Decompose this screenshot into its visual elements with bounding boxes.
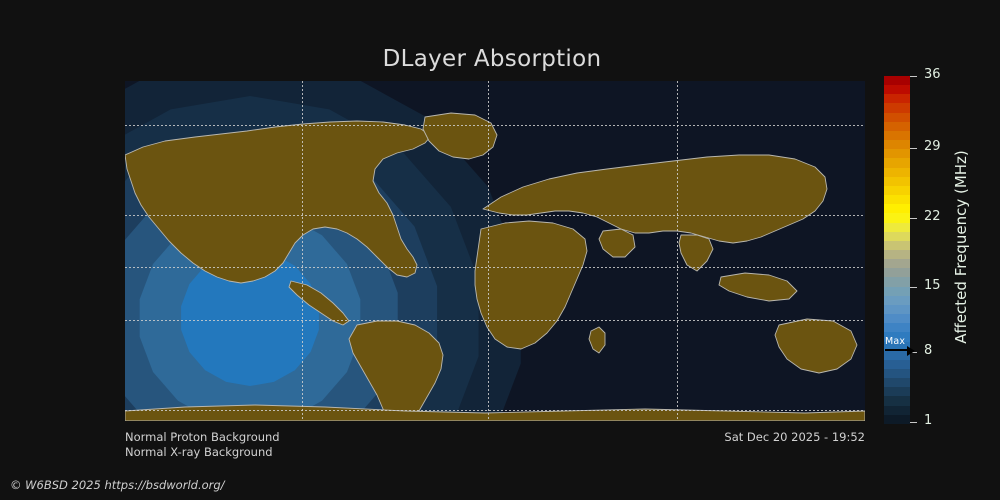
- gridline-layer: [125, 81, 865, 421]
- gridline-horizontal: [125, 215, 865, 216]
- colorbar-band: [884, 103, 910, 112]
- colorbar-band: [884, 305, 910, 314]
- colorbar-band: [884, 259, 910, 268]
- colorbar-band: [884, 223, 910, 232]
- colorbar-tick-mark: [910, 76, 917, 77]
- max-marker-arrowhead-icon: [907, 346, 915, 356]
- colorbar-band: [884, 168, 910, 177]
- max-marker-label: Max: [885, 336, 905, 347]
- gridline-horizontal: [125, 125, 865, 126]
- colorbar-band: [884, 149, 910, 158]
- max-marker: Max: [884, 336, 928, 358]
- gridline-vertical: [677, 81, 678, 421]
- colorbar-band: [884, 195, 910, 204]
- colorbar-band: [884, 204, 910, 213]
- colorbar-band: [884, 232, 910, 241]
- colorbar-band: [884, 113, 910, 122]
- colorbar-band: [884, 85, 910, 94]
- colorbar-band: [884, 323, 910, 332]
- colorbar-gradient: [884, 76, 910, 424]
- colorbar-band: [884, 268, 910, 277]
- gridline-horizontal: [125, 410, 865, 411]
- colorbar-tick-mark: [910, 148, 917, 149]
- colorbar-band: [884, 314, 910, 323]
- colorbar-band: [884, 396, 910, 405]
- note-xray-background: Normal X-ray Background: [125, 445, 273, 459]
- colorbar-band: [884, 277, 910, 286]
- colorbar-band: [884, 140, 910, 149]
- colorbar-band: [884, 250, 910, 259]
- colorbar-band: [884, 131, 910, 140]
- colorbar-band: [884, 387, 910, 396]
- colorbar-band: [884, 76, 910, 85]
- colorbar-band: [884, 122, 910, 131]
- colorbar-label-text: Affected Frequency (MHz): [952, 117, 970, 377]
- colorbar-tick-mark: [910, 218, 917, 219]
- colorbar-band: [884, 241, 910, 250]
- colorbar-band: [884, 378, 910, 387]
- colorbar-band: [884, 213, 910, 222]
- colorbar-band: [884, 369, 910, 378]
- colorbar-axis-label: Affected Frequency (MHz): [938, 0, 968, 500]
- gridline-vertical: [302, 81, 303, 421]
- gridline-horizontal: [125, 267, 865, 268]
- max-marker-arrow-icon: [885, 349, 909, 351]
- colorbar-band: [884, 406, 910, 415]
- colorbar[interactable]: [884, 76, 910, 424]
- colorbar-band: [884, 94, 910, 103]
- timestamp: Sat Dec 20 2025 - 19:52: [0, 430, 865, 444]
- colorbar-band: [884, 186, 910, 195]
- credit-line: © W6BSD 2025 https://bsdworld.org/: [10, 478, 225, 492]
- colorbar-band: [884, 287, 910, 296]
- colorbar-tick-mark: [910, 422, 917, 423]
- colorbar-tick-mark: [910, 287, 917, 288]
- colorbar-band: [884, 296, 910, 305]
- page-title: DLayer Absorption: [0, 46, 992, 72]
- colorbar-band: [884, 177, 910, 186]
- colorbar-band: [884, 415, 910, 424]
- gridline-vertical: [488, 81, 489, 421]
- world-map-plot[interactable]: [125, 81, 865, 421]
- colorbar-band: [884, 360, 910, 369]
- app-root: DLayer Absorption: [0, 0, 1000, 500]
- colorbar-tick-label: 1: [924, 413, 932, 428]
- gridline-horizontal: [125, 320, 865, 321]
- colorbar-band: [884, 158, 910, 167]
